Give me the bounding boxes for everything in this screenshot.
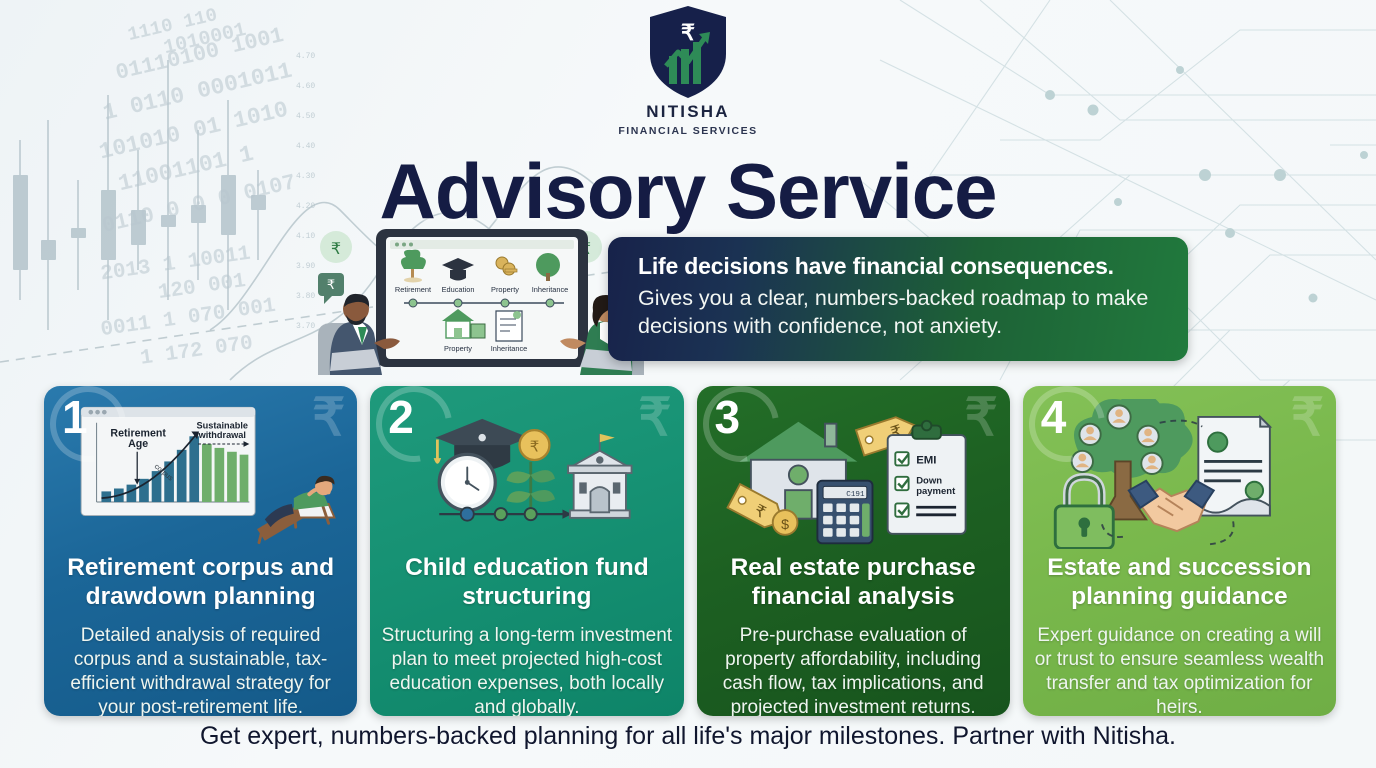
svg-text:EMI: EMI [916, 455, 936, 467]
service-card-estate-succession[interactable]: 4 ₹ [1023, 386, 1336, 716]
card-description: Pre-purchase evaluation of property affo… [707, 624, 1000, 716]
card-number: 3 [715, 394, 741, 440]
svg-text:Age: Age [128, 438, 148, 450]
svg-text:Education: Education [442, 285, 475, 294]
service-card-child-education[interactable]: 2 ₹ ₹ [370, 386, 683, 716]
card-title: Retirement corpus and drawdown planning [52, 554, 349, 612]
brand-header: ₹ NITISHA FINANCIAL SERVICES [0, 0, 1376, 150]
svg-text:withdrawal: withdrawal [197, 430, 245, 440]
svg-text:Property: Property [444, 344, 472, 353]
svg-text:Retirement: Retirement [395, 285, 431, 294]
rupee-watermark-icon: ₹ [1291, 392, 1324, 444]
card-number: 4 [1041, 394, 1067, 440]
svg-text:₹: ₹ [530, 439, 540, 456]
svg-text:₹: ₹ [331, 241, 341, 258]
card-description: Structuring a long-term investment plan … [380, 624, 673, 716]
rupee-watermark-icon: ₹ [638, 392, 671, 444]
banner-headline: Life decisions have financial consequenc… [638, 253, 1166, 280]
advisor-client-tablet-illustration: ₹ ₹ ₹ Retirement Education Property Inhe… [300, 225, 660, 375]
svg-text:$: $ [781, 517, 789, 533]
shield-rupee-growth-chart-icon: ₹ [644, 4, 732, 100]
card-title: Child education fund structuring [378, 554, 675, 612]
svg-text:Sustainable: Sustainable [196, 421, 247, 431]
svg-text:C191: C191 [846, 491, 865, 499]
service-card-retirement[interactable]: 1 ₹ Retirem [44, 386, 357, 716]
card-description: Detailed analysis of required corpus and… [54, 624, 347, 716]
rupee-watermark-icon: ₹ [965, 392, 998, 444]
page-title: Advisory Service [0, 146, 1376, 237]
rupee-watermark-icon: ₹ [312, 392, 345, 444]
banner-body: Gives you a clear, numbers-backed roadma… [638, 284, 1166, 341]
svg-text:Property: Property [491, 285, 519, 294]
card-title: Real estate purchase financial analysis [705, 554, 1002, 612]
card-number: 2 [388, 394, 414, 440]
value-proposition-banner: Life decisions have financial consequenc… [608, 237, 1188, 361]
svg-text:₹: ₹ [327, 277, 335, 292]
brand-name: NITISHA [646, 102, 729, 122]
footer-tagline: Get expert, numbers-backed planning for … [0, 722, 1376, 751]
svg-text:Inheritance: Inheritance [532, 285, 569, 294]
card-description: Expert guidance on creating a will or tr… [1033, 624, 1326, 716]
card-number: 1 [62, 394, 88, 440]
service-cards: 1 ₹ Retirem [44, 386, 1336, 716]
brand-subtitle: FINANCIAL SERVICES [618, 125, 757, 137]
svg-text:Down: Down [916, 476, 942, 487]
svg-text:Inheritance: Inheritance [491, 344, 528, 353]
service-card-real-estate[interactable]: 3 ₹ ₹ ₹ [697, 386, 1010, 716]
svg-text:payment: payment [916, 486, 956, 497]
svg-text:₹: ₹ [681, 20, 695, 45]
card-title: Estate and succession planning guidance [1031, 554, 1328, 612]
